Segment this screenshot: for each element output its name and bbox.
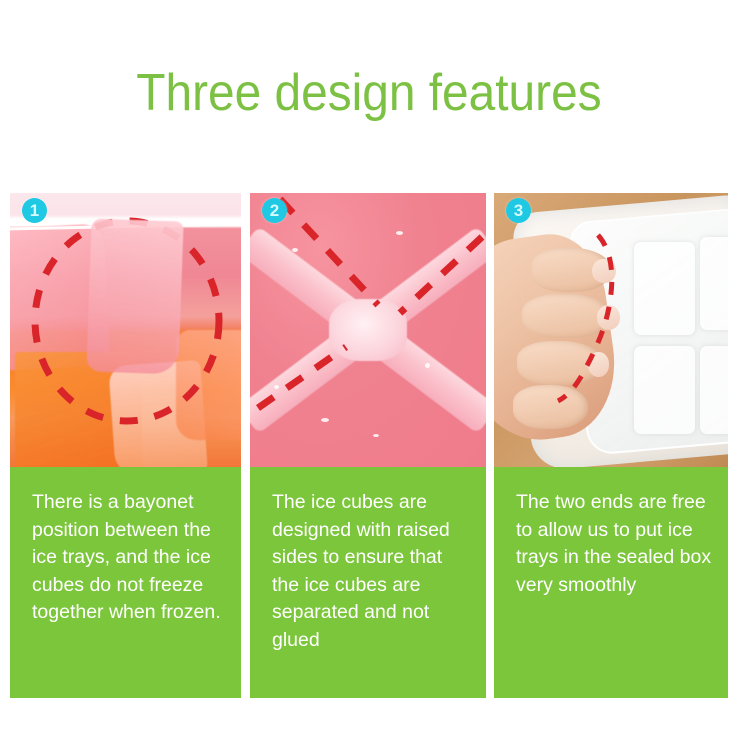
feature-photo-1: 1 [10, 193, 241, 467]
feature-panels: 1 There is a bayonet position between th… [0, 193, 737, 698]
caption-text-2: The ice cubes are designed with raised s… [272, 489, 486, 654]
tray-cell [700, 346, 728, 434]
water-speck [373, 434, 379, 437]
tray-seam-line [10, 222, 241, 230]
feature-photo-2: 2 [250, 193, 486, 467]
caption-text-1: There is a bayonet position between the … [32, 489, 241, 627]
water-speck [321, 418, 329, 422]
caption-text-3: The two ends are free to allow us to put… [516, 489, 728, 599]
page-header: Three design features [0, 0, 737, 185]
fingernail [597, 305, 620, 330]
feature-caption-1: There is a bayonet position between the … [10, 467, 241, 698]
water-speck [425, 363, 430, 368]
tray-divider-hub [329, 299, 407, 361]
water-speck [396, 231, 403, 235]
side-ice-chunk [176, 330, 241, 440]
feature-panel-2: 2 The ice cubes are designed with raised… [250, 193, 486, 698]
panel-badge-3: 3 [506, 198, 531, 223]
finger [513, 385, 588, 429]
feature-panel-3: 3 The two ends are free to allow us to p… [494, 193, 728, 698]
page-title: Three design features [136, 67, 601, 119]
tray-cell [700, 237, 728, 330]
feature-photo-3: 3 [494, 193, 728, 467]
panel-badge-1: 1 [22, 198, 47, 223]
feature-caption-2: The ice cubes are designed with raised s… [250, 467, 486, 698]
water-speck [292, 248, 298, 252]
tray-cell [634, 346, 695, 434]
feature-panel-1: 1 There is a bayonet position between th… [10, 193, 241, 698]
tray-cell [634, 242, 695, 335]
feature-caption-3: The two ends are free to allow us to put… [494, 467, 728, 698]
panel-badge-2: 2 [262, 198, 287, 223]
fingernail [588, 352, 609, 377]
fingernail [592, 259, 615, 284]
water-speck [274, 385, 279, 389]
